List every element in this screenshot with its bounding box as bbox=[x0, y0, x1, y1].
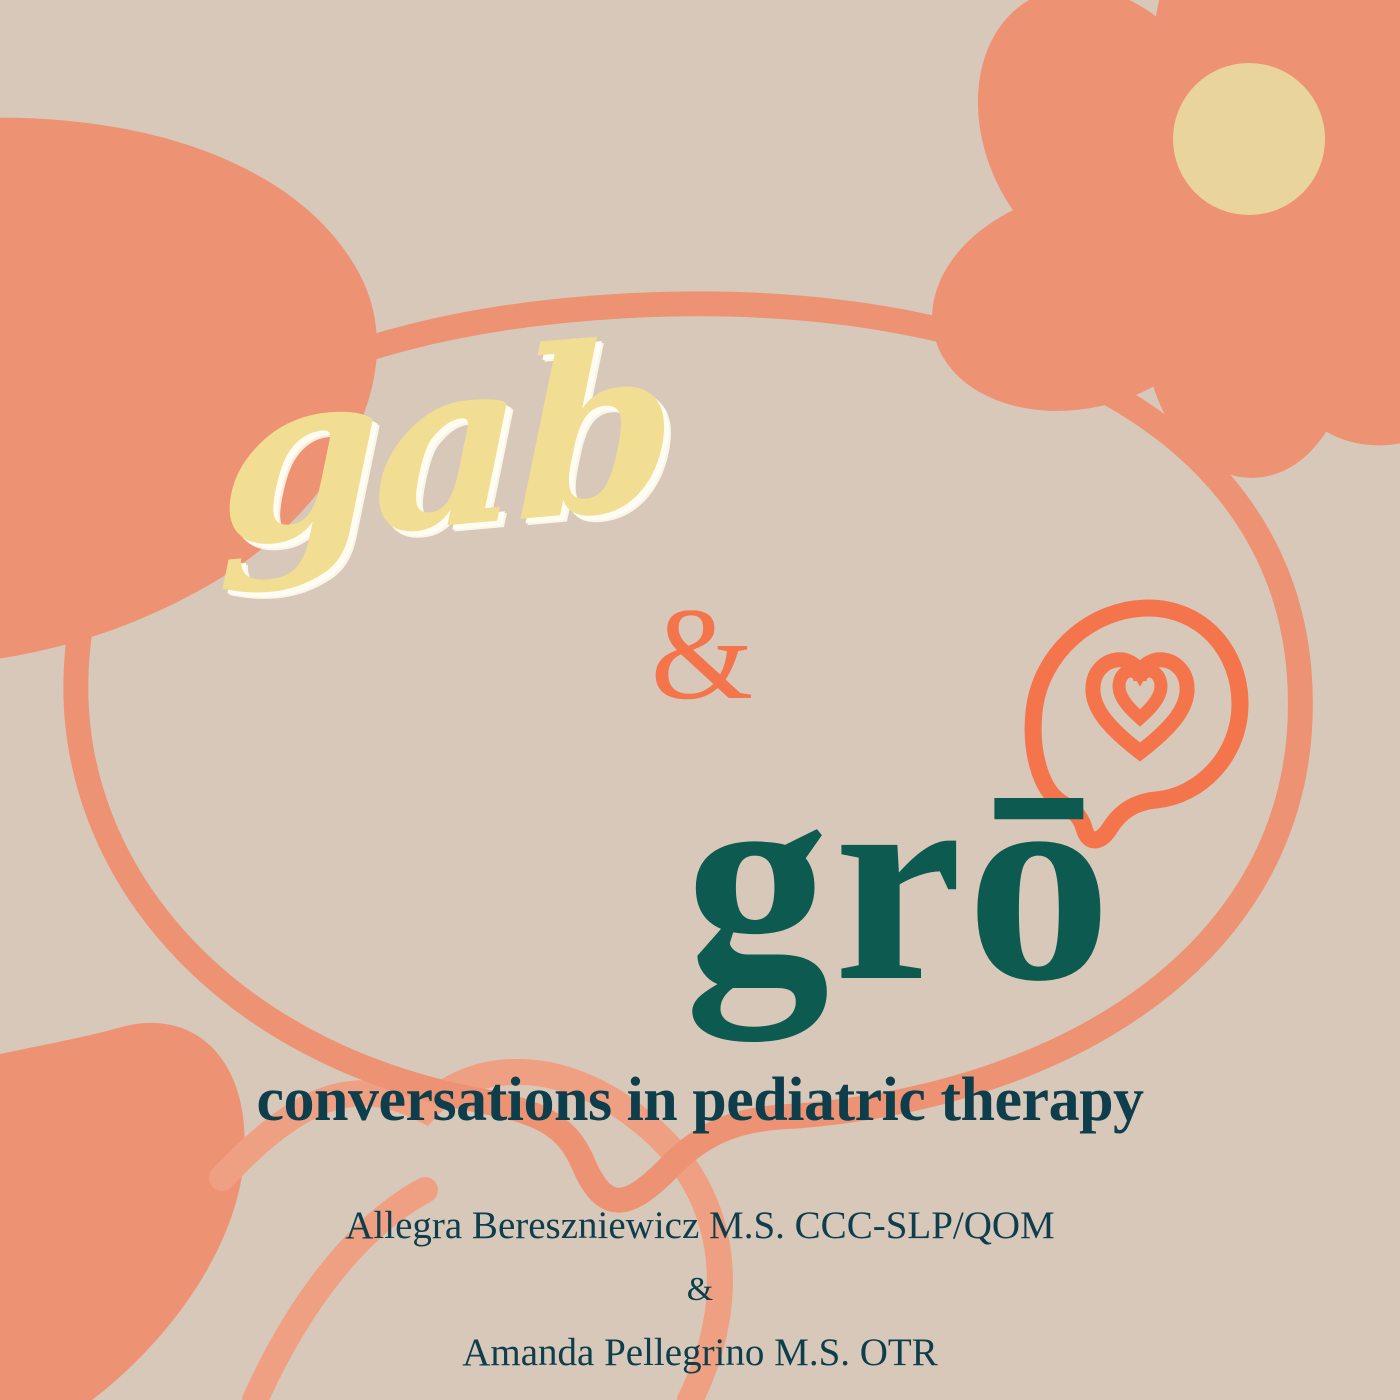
tagline: conversations in pediatric therapy bbox=[0, 1068, 1400, 1133]
podcast-cover-art: gab & grō conversations in pediatric the… bbox=[0, 0, 1400, 1400]
credits-ampersand: & bbox=[0, 1273, 1400, 1307]
gro-wordmark: grō bbox=[660, 736, 1140, 1026]
host-two-credit: Amanda Pellegrino M.S. OTR bbox=[0, 1333, 1400, 1372]
brand-ampersand: & bbox=[612, 588, 792, 720]
credits-block: Allegra Bereszniewicz M.S. CCC-SLP/QOM &… bbox=[0, 1206, 1400, 1372]
host-one-credit: Allegra Bereszniewicz M.S. CCC-SLP/QOM bbox=[0, 1206, 1400, 1245]
gab-wordmark: gab bbox=[209, 309, 681, 581]
flower-center bbox=[1173, 63, 1325, 215]
